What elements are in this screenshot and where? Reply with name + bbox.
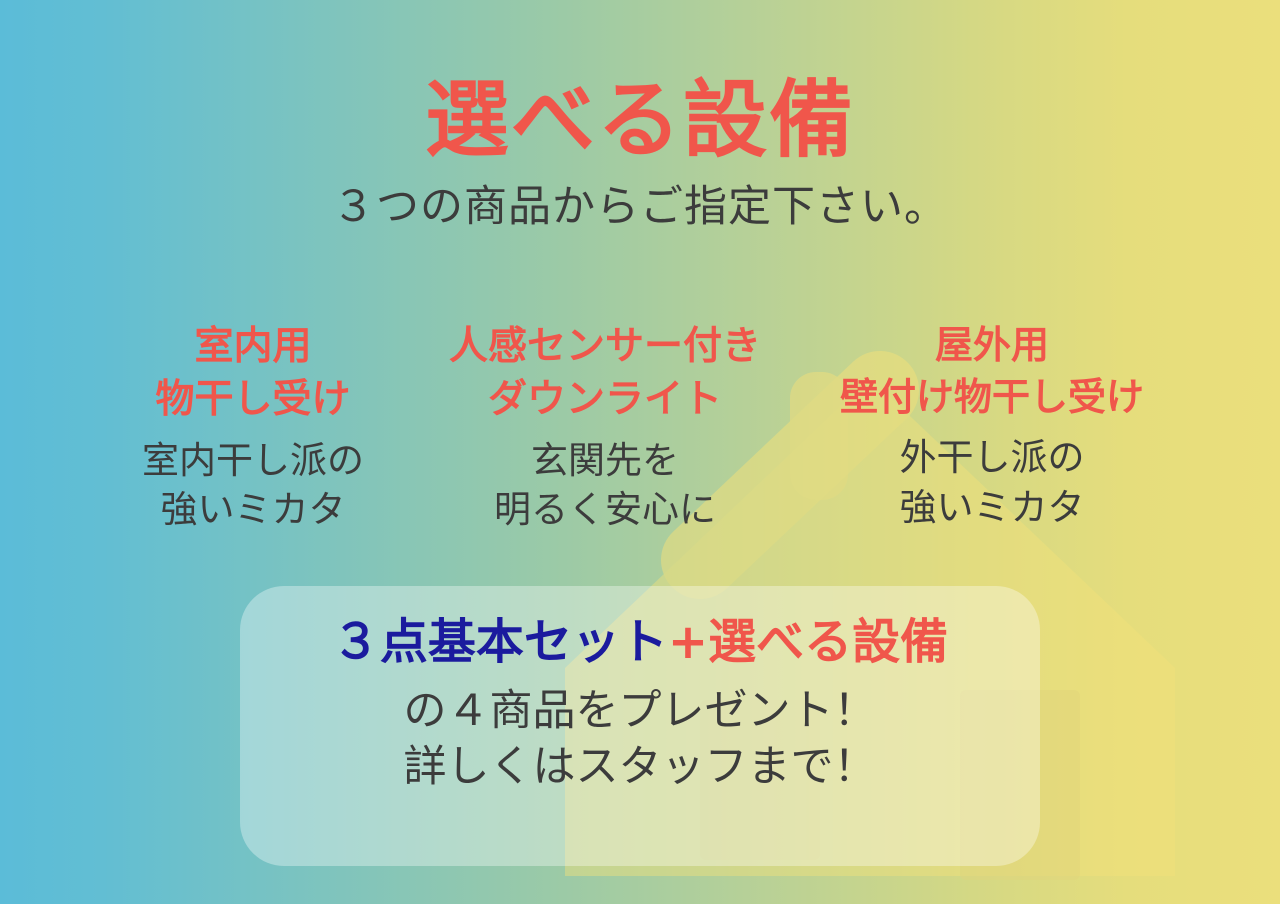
promo-headline-set: ３点基本セット	[332, 614, 668, 670]
option-desc-line-1: 玄関先を	[430, 436, 780, 485]
option-desc-line-2: 明るく安心に	[430, 485, 780, 534]
promo-headline: ３点基本セット+選べる設備	[180, 614, 1100, 671]
option-desc-line-1: 外干し派の	[792, 433, 1192, 482]
option-title: 室内用 物干し受け	[88, 320, 418, 426]
options-row: 室内用 物干し受け 室内干し派の 強いミカタ 人感センサー付き ダウンライト 玄…	[0, 320, 1280, 534]
option-description: 室内干し派の 強いミカタ	[88, 436, 418, 534]
promo-line-contact: 詳しくはスタッフまで！	[180, 739, 1100, 796]
promo-headline-bonus: +選べる設備	[668, 614, 948, 670]
option-description: 玄関先を 明るく安心に	[430, 436, 780, 534]
option-description: 外干し派の 強いミカタ	[792, 433, 1192, 531]
option-title-line-2: 物干し受け	[88, 373, 418, 426]
option-desc-line-2: 強いミカタ	[792, 483, 1192, 532]
option-card-indoor: 室内用 物干し受け 室内干し派の 強いミカタ	[82, 320, 424, 534]
option-desc-line-1: 室内干し派の	[88, 436, 418, 485]
option-title: 屋外用 壁付け物干し受け	[792, 320, 1192, 423]
promo-panel-content: ３点基本セット+選べる設備 の４商品をプレゼント！ 詳しくはスタッフまで！	[180, 614, 1100, 796]
promo-poster: 選べる設備 ３つの商品からご指定下さい。 室内用 物干し受け 室内干し派の 強い…	[0, 0, 1280, 904]
promo-line-gift: の４商品をプレゼント！	[180, 683, 1100, 740]
option-title-line-1: 屋外用	[792, 320, 1192, 372]
option-desc-line-2: 強いミカタ	[88, 485, 418, 534]
headline-block: 選べる設備 ３つの商品からご指定下さい。	[0, 78, 1280, 231]
option-title-line-2: ダウンライト	[430, 373, 780, 426]
option-title: 人感センサー付き ダウンライト	[430, 320, 780, 426]
option-title-line-2: 壁付け物干し受け	[792, 372, 1192, 424]
option-card-outdoor: 屋外用 壁付け物干し受け 外干し派の 強いミカタ	[786, 320, 1198, 532]
option-title-line-1: 人感センサー付き	[430, 320, 780, 373]
option-card-downlight: 人感センサー付き ダウンライト 玄関先を 明るく安心に	[424, 320, 786, 534]
page-title: 選べる設備	[0, 78, 1280, 164]
promo-panel: ３点基本セット+選べる設備 の４商品をプレゼント！ 詳しくはスタッフまで！	[240, 586, 1040, 866]
option-title-line-1: 室内用	[88, 320, 418, 373]
page-subtitle: ３つの商品からご指定下さい。	[0, 184, 1280, 231]
